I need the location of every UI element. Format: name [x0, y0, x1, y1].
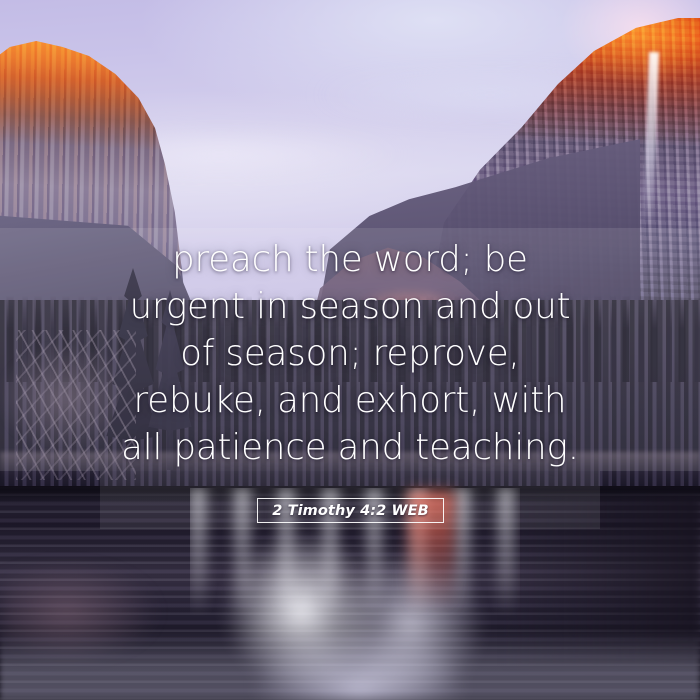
reference-box: 2 Timothy 4:2 WEB [257, 498, 444, 523]
right-peak-sunset-glow [500, 0, 700, 140]
water-foreground-fade [0, 630, 700, 700]
reference-label: 2 Timothy 4:2 WEB [272, 503, 429, 519]
verse-text: preach the word; be urgent in season and… [0, 236, 700, 471]
verse-image: preach the word; be urgent in season and… [0, 0, 700, 700]
